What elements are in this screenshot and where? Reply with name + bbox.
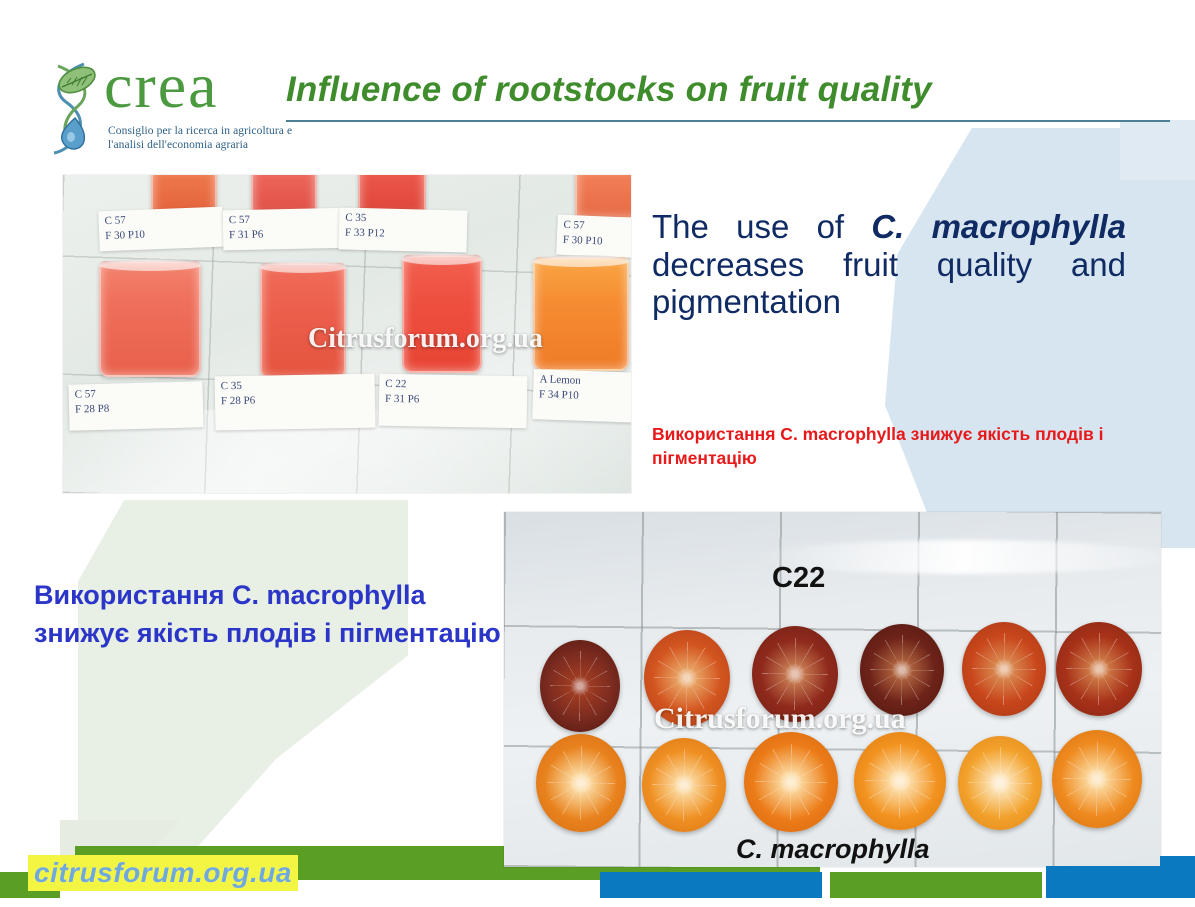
page-title: Influence of rootstocks on fruit quality <box>286 70 932 110</box>
logo-mark-icon <box>44 58 106 158</box>
decorative-blue-shape <box>885 128 1195 548</box>
jar-rim <box>98 259 202 271</box>
english-statement-part2: decreases fruit quality and pigmentation <box>652 246 1126 321</box>
orange-half-bottom <box>642 738 726 832</box>
orange-half-bottom <box>1052 730 1142 828</box>
species-name: C. macrophylla <box>871 208 1126 245</box>
label-slip: C 57F 30 P10 <box>556 214 631 259</box>
decorative-green-shape <box>78 500 408 870</box>
orange-half-bottom <box>536 734 626 832</box>
jar-front-6 <box>402 255 482 373</box>
label-slip: C 22F 31 P6 <box>379 374 528 429</box>
orange-half-bottom <box>958 736 1042 830</box>
label-slip: A LemonF 34 P10 <box>532 369 631 423</box>
jar-front-5 <box>260 263 346 379</box>
photo-orange-halves: C22 Citrusforum.org.ua C. macrophylla <box>504 512 1161 867</box>
orange-half-top <box>962 622 1046 716</box>
footer-watermark: citrusforum.org.ua <box>28 855 298 891</box>
orange-half-bottom <box>744 732 838 832</box>
ukrainian-caption-blue: Використання C. macrophylla знижує якіст… <box>34 576 524 653</box>
english-statement-part1: The use of <box>652 208 871 245</box>
label-slip: C 57F 30 P10 <box>98 207 223 252</box>
photo-label-c22: C22 <box>772 562 825 595</box>
orange-half-top <box>1056 622 1142 716</box>
jar-rim <box>532 255 630 267</box>
label-slip: C 57F 28 P8 <box>68 381 203 430</box>
footer-bar-blue-center-left <box>600 872 822 898</box>
photo-juice-jars: C 57F 30 P10 C 57F 31 P6 C 35F 33 P12 C … <box>63 175 631 493</box>
jar-rim <box>259 261 347 273</box>
photo-watermark-jars: Citrusforum.org.ua <box>308 323 543 355</box>
label-slip: C 35F 28 P6 <box>215 374 376 431</box>
logo-wordmark: crea <box>104 54 219 118</box>
label-slip: C 35F 33 P12 <box>339 207 468 252</box>
english-statement: The use of C. macrophylla decreases frui… <box>652 208 1126 321</box>
photo-label-macrophylla: C. macrophylla <box>736 834 930 865</box>
label-slip: C 57F 31 P6 <box>223 208 354 251</box>
logo-subtitle: Consiglio per la ricerca in agricoltura … <box>108 124 308 153</box>
jar-front-1 <box>99 261 201 377</box>
footer-bar-green-center-right <box>830 872 1042 898</box>
orange-half-bottom <box>854 732 946 830</box>
orange-half-top <box>540 640 620 732</box>
jar-front-10 <box>533 257 629 371</box>
title-underline <box>286 120 1170 122</box>
slide-canvas: crea Consiglio per la ricerca in agricol… <box>0 0 1195 907</box>
jar-rim <box>401 253 483 265</box>
footer-bar-blue-right <box>1046 866 1195 898</box>
decorative-blue-shape-corner <box>1120 120 1195 180</box>
ukrainian-caption-red: Використання C. macrophylla знижує якіст… <box>652 423 1132 470</box>
jar-back-6 <box>575 175 631 219</box>
crea-logo: crea Consiglio per la ricerca in agricol… <box>44 56 294 164</box>
photo-watermark-oranges: Citrusforum.org.ua <box>654 702 906 736</box>
